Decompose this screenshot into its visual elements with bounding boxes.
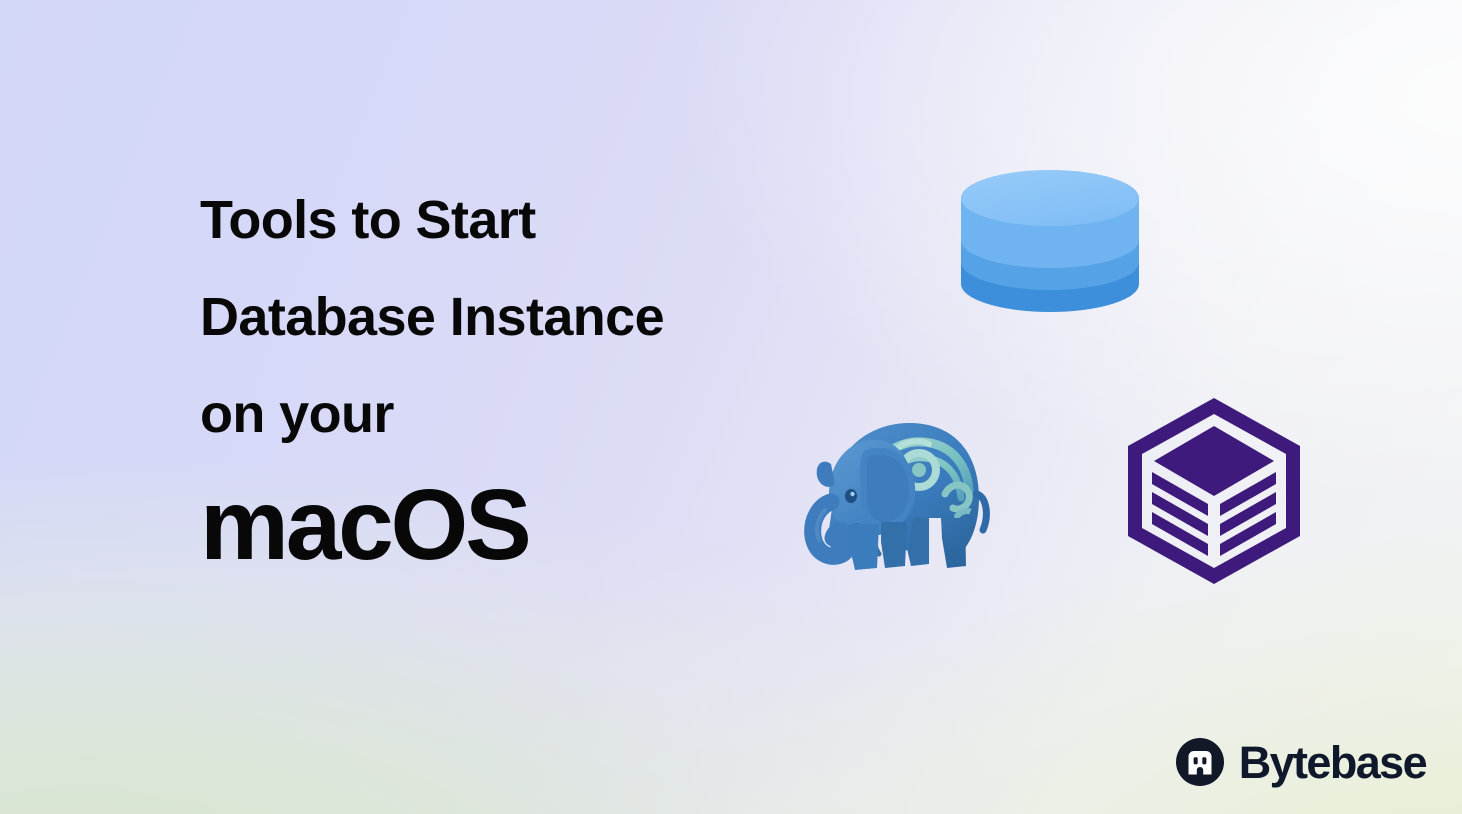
postgres-elephant-icon bbox=[795, 398, 995, 588]
bytebase-brand-lockup: Bytebase bbox=[1176, 738, 1426, 786]
headline-line-1: Tools to Start bbox=[200, 172, 900, 269]
bytebase-wordmark: Bytebase bbox=[1239, 740, 1426, 785]
database-cylinder-icon bbox=[957, 168, 1143, 328]
stacked-cube-hexagon-icon bbox=[1128, 398, 1300, 584]
headline-line-2: Database Instance bbox=[200, 269, 900, 366]
cover-canvas: Tools to Start Database Instance on your… bbox=[0, 0, 1462, 814]
bytebase-logo-mark bbox=[1176, 738, 1224, 786]
